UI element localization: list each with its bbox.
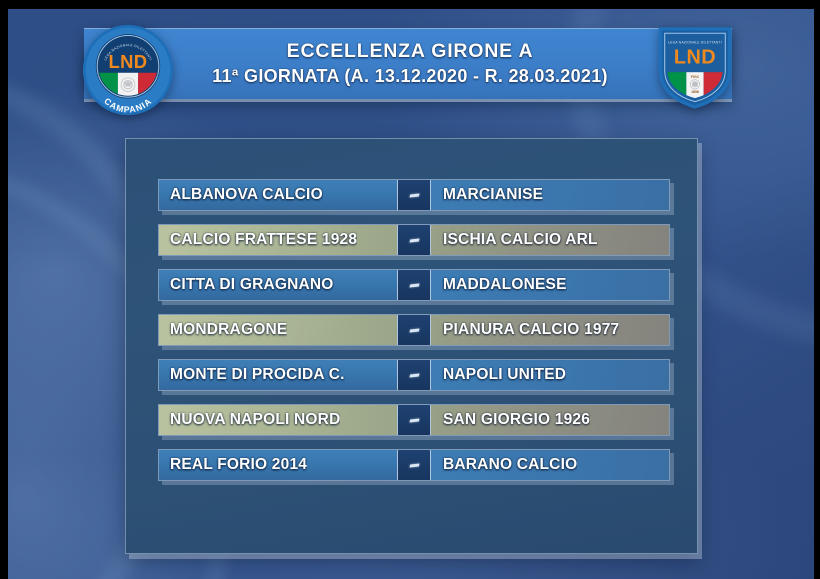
- away-team-name: PIANURA CALCIO 1977: [431, 321, 619, 339]
- svg-text:LND: LND: [674, 47, 716, 69]
- home-team-name: CITTA DI GRAGNANO: [159, 276, 334, 294]
- away-team: PIANURA CALCIO 1977: [431, 315, 669, 345]
- home-team: MONTE DI PROCIDA C.: [159, 360, 397, 390]
- home-team-name: ALBANOVA CALCIO: [159, 186, 323, 204]
- away-team: NAPOLI UNITED: [431, 360, 669, 390]
- match-row[interactable]: NUOVA NAPOLI NORDSAN GIORGIO 1926: [158, 404, 670, 436]
- away-team: MADDALONESE: [431, 270, 669, 300]
- away-team-name: MADDALONESE: [431, 276, 567, 294]
- score-separator-box: [397, 405, 431, 435]
- dash-icon: [409, 463, 419, 467]
- away-team-name: BARANO CALCIO: [431, 456, 577, 474]
- fixtures-list: ALBANOVA CALCIOMARCIANISECALCIO FRATTESE…: [158, 179, 670, 481]
- home-team: ALBANOVA CALCIO: [159, 180, 397, 210]
- svg-text:LEGA NAZIONALE DILETTANTI: LEGA NAZIONALE DILETTANTI: [668, 41, 722, 45]
- home-team: CITTA DI GRAGNANO: [159, 270, 397, 300]
- match-row[interactable]: REAL FORIO 2014BARANO CALCIO: [158, 449, 670, 481]
- dash-icon: [409, 373, 419, 377]
- away-team: BARANO CALCIO: [431, 450, 669, 480]
- score-separator-box: [397, 180, 431, 210]
- away-team-name: SAN GIORGIO 1926: [431, 411, 590, 429]
- match-row[interactable]: MONTE DI PROCIDA C.NAPOLI UNITED: [158, 359, 670, 391]
- broadcast-graphic: ECCELLENZA GIRONE A 11ª GIORNATA (A. 13.…: [0, 0, 820, 579]
- away-team-name: ISCHIA CALCIO ARL: [431, 231, 598, 249]
- score-separator-box: [397, 360, 431, 390]
- home-team: CALCIO FRATTESE 1928: [159, 225, 397, 255]
- home-team-name: NUOVA NAPOLI NORD: [159, 411, 340, 429]
- dash-icon: [409, 193, 419, 197]
- away-team: ISCHIA CALCIO ARL: [431, 225, 669, 255]
- home-team-name: MONTE DI PROCIDA C.: [159, 366, 345, 384]
- frame-edge-left: [0, 0, 8, 579]
- home-team: NUOVA NAPOLI NORD: [159, 405, 397, 435]
- match-row[interactable]: CITTA DI GRAGNANOMADDALONESE: [158, 269, 670, 301]
- score-separator-box: [397, 225, 431, 255]
- svg-text:LND: LND: [109, 51, 148, 72]
- away-team: MARCIANISE: [431, 180, 669, 210]
- away-team: SAN GIORGIO 1926: [431, 405, 669, 435]
- header-band: [84, 28, 732, 99]
- lnd-shield-logo-icon: LEGA NAZIONALE DILETTANTI LND FIGC 1898: [651, 22, 739, 112]
- home-team-name: REAL FORIO 2014: [159, 456, 307, 474]
- frame-edge-top: [0, 0, 820, 9]
- match-row[interactable]: CALCIO FRATTESE 1928ISCHIA CALCIO ARL: [158, 224, 670, 256]
- frame-edge-right: [814, 0, 820, 579]
- dash-icon: [409, 418, 419, 422]
- lnd-campania-logo-icon: LEGA NAZIONALE DILETTANTI LND CAMPANIA: [82, 24, 174, 116]
- home-team: REAL FORIO 2014: [159, 450, 397, 480]
- match-row[interactable]: ALBANOVA CALCIOMARCIANISE: [158, 179, 670, 211]
- score-separator-box: [397, 270, 431, 300]
- dash-icon: [409, 283, 419, 287]
- score-separator-box: [397, 315, 431, 345]
- dash-icon: [409, 238, 419, 242]
- fixtures-panel: ALBANOVA CALCIOMARCIANISECALCIO FRATTESE…: [125, 138, 698, 554]
- home-team-name: CALCIO FRATTESE 1928: [159, 231, 357, 249]
- svg-text:1898: 1898: [691, 90, 699, 94]
- dash-icon: [409, 328, 419, 332]
- home-team-name: MONDRAGONE: [159, 321, 287, 339]
- away-team-name: NAPOLI UNITED: [431, 366, 566, 384]
- match-row[interactable]: MONDRAGONEPIANURA CALCIO 1977: [158, 314, 670, 346]
- home-team: MONDRAGONE: [159, 315, 397, 345]
- away-team-name: MARCIANISE: [431, 186, 543, 204]
- svg-text:FIGC: FIGC: [691, 75, 700, 79]
- score-separator-box: [397, 450, 431, 480]
